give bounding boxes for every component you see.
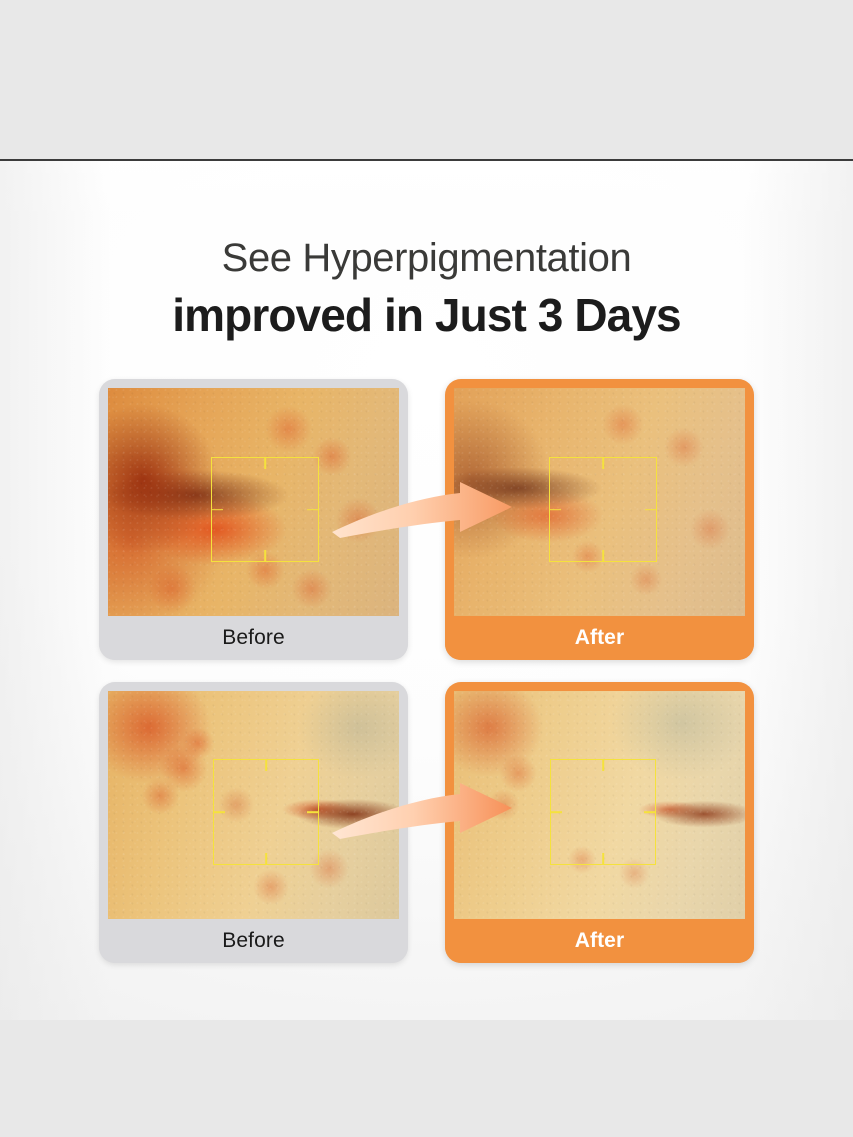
before-label-bar: Before	[99, 616, 408, 660]
skin-texture	[454, 691, 745, 919]
after-photo	[454, 691, 745, 919]
headline-line-1: See Hyperpigmentation	[0, 232, 853, 284]
before-label: Before	[222, 929, 284, 953]
after-label-bar: After	[445, 919, 754, 963]
before-label: Before	[222, 626, 284, 650]
comparison-row: Before After	[99, 379, 754, 660]
after-label: After	[575, 626, 625, 650]
before-photo	[108, 691, 399, 919]
skin-texture	[108, 388, 399, 616]
before-photo	[108, 388, 399, 616]
after-card[interactable]: After	[445, 682, 754, 963]
before-card[interactable]: Before	[99, 379, 408, 660]
page-root: See Hyperpigmentation improved in Just 3…	[0, 0, 853, 1137]
before-card[interactable]: Before	[99, 682, 408, 963]
top-chrome-band	[0, 0, 853, 159]
after-photo	[454, 388, 745, 616]
skin-texture	[108, 691, 399, 919]
skin-texture	[454, 388, 745, 616]
bottom-chrome-band	[0, 1020, 853, 1137]
after-label: After	[575, 929, 625, 953]
before-label-bar: Before	[99, 919, 408, 963]
comparison-row: Before After	[99, 682, 754, 963]
before-after-grid: Before After	[99, 379, 754, 964]
headline-line-2: improved in Just 3 Days	[0, 286, 853, 344]
after-card[interactable]: After	[445, 379, 754, 660]
page-title: See Hyperpigmentation improved in Just 3…	[0, 232, 853, 344]
after-label-bar: After	[445, 616, 754, 660]
